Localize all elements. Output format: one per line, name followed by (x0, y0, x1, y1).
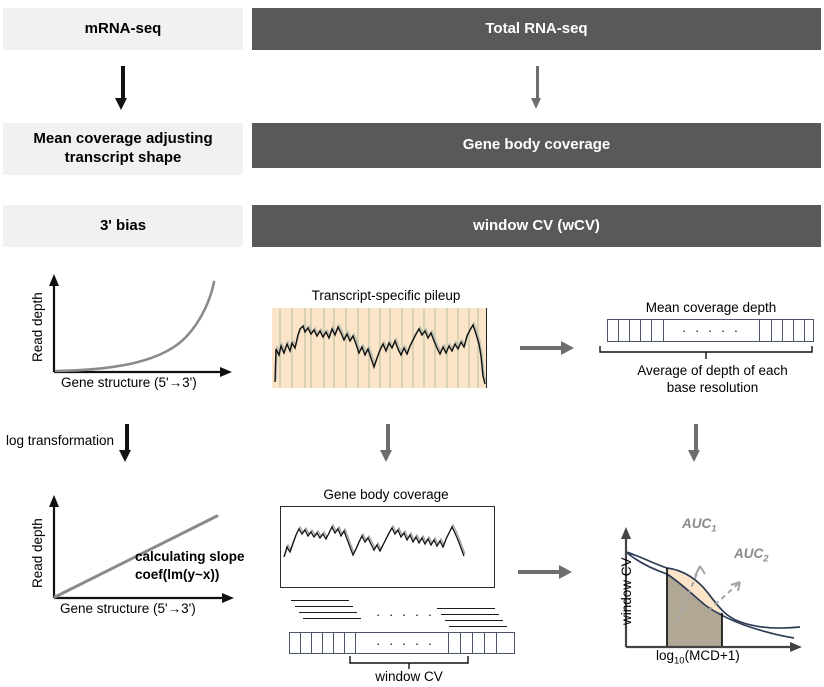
header-total-rna-seq-label: Total RNA-seq (485, 20, 587, 39)
three-prime-bias-xlabel: Gene structure (5'→3') (61, 375, 197, 390)
gbc-trace-shadow (285, 525, 465, 555)
box-mean-coverage-label: Mean coverage adjusting transcript shape (33, 130, 212, 168)
slope-plot-ylabel: Read depth (30, 518, 45, 588)
gene-body-coverage-dots: · · · · · (376, 607, 435, 622)
auc-xlabel-rest: (MCD+1) (685, 648, 740, 663)
box-gene-body-coverage-label: Gene body coverage (463, 136, 611, 155)
three-prime-bias-svg (8, 265, 258, 390)
auc1-label-sub: 1 (711, 524, 716, 535)
header-mrna-seq: mRNA-seq (3, 8, 243, 50)
gene-body-coverage-panel (280, 506, 495, 588)
header-total-rna-seq: Total RNA-seq (252, 8, 821, 50)
mean-coverage-depth-title: Mean coverage depth (606, 300, 816, 317)
auc2-label: AUC2 (734, 546, 769, 565)
auc1-label-text: AUC (682, 516, 711, 531)
auc1-label: AUC1 (682, 516, 717, 535)
pileup-title: Transcript-specific pileup (272, 288, 500, 305)
auc-plot-ylabel: window CV (619, 557, 634, 625)
box-mean-coverage-line1: Mean coverage adjusting (33, 130, 212, 147)
auc-plot-svg (612, 490, 824, 665)
auc-xlabel-log: log (656, 648, 674, 663)
box-window-cv-label: window CV (wCV) (473, 217, 600, 236)
pileup-trace-shadow (276, 323, 486, 382)
gene-body-coverage-svg (281, 507, 494, 587)
three-prime-bias-ylabel: Read depth (30, 292, 45, 362)
window-cv-bar-dots: · · · · · (376, 636, 435, 651)
mcd-caption-line2: base resolution (667, 380, 759, 395)
header-mrna-seq-label: mRNA-seq (85, 20, 162, 39)
auc2-label-text: AUC (734, 546, 763, 561)
box-mean-coverage-line2: transcript shape (65, 149, 182, 166)
pileup-svg (272, 308, 487, 388)
auc-xlabel-sub: 10 (674, 656, 685, 667)
slope-annotation-line2: coef(lm(y~x)) (135, 567, 219, 582)
box-gene-body-coverage: Gene body coverage (252, 123, 821, 168)
mean-coverage-depth-dots: · · · · · (682, 323, 741, 338)
auc-plot: window CV AUC1 AUC2 log10(MCD+1) (612, 490, 824, 665)
mean-coverage-depth-brace (598, 343, 822, 363)
box-mean-coverage-adjusting: Mean coverage adjusting transcript shape (3, 123, 243, 175)
box-window-cv: window CV (wCV) (252, 205, 821, 247)
gene-body-coverage-title: Gene body coverage (272, 487, 500, 504)
box-three-prime-bias-label: 3' bias (100, 217, 146, 236)
box-three-prime-bias: 3' bias (3, 205, 243, 247)
mcd-caption-line1: Average of depth of each (637, 363, 788, 378)
auc-plot-xlabel: log10(MCD+1) (656, 648, 740, 667)
slope-plot: Read depth Gene structure (5'→3') calcul… (8, 488, 263, 618)
slope-plot-xlabel: Gene structure (5'→3') (60, 601, 196, 616)
auc2-label-sub: 2 (763, 554, 768, 565)
log-transformation-label: log transformation (6, 433, 114, 448)
slope-annotation-line1: calculating slope (135, 549, 245, 564)
window-cv-brace-label: window CV (349, 669, 469, 686)
slope-plot-annotation: calculating slope coef(lm(y~x)) (135, 548, 245, 583)
pileup-panel (272, 308, 487, 388)
mean-coverage-depth-caption: Average of depth of each base resolution (610, 363, 815, 397)
three-prime-bias-plot: Read depth Gene structure (5'→3') (8, 265, 258, 390)
